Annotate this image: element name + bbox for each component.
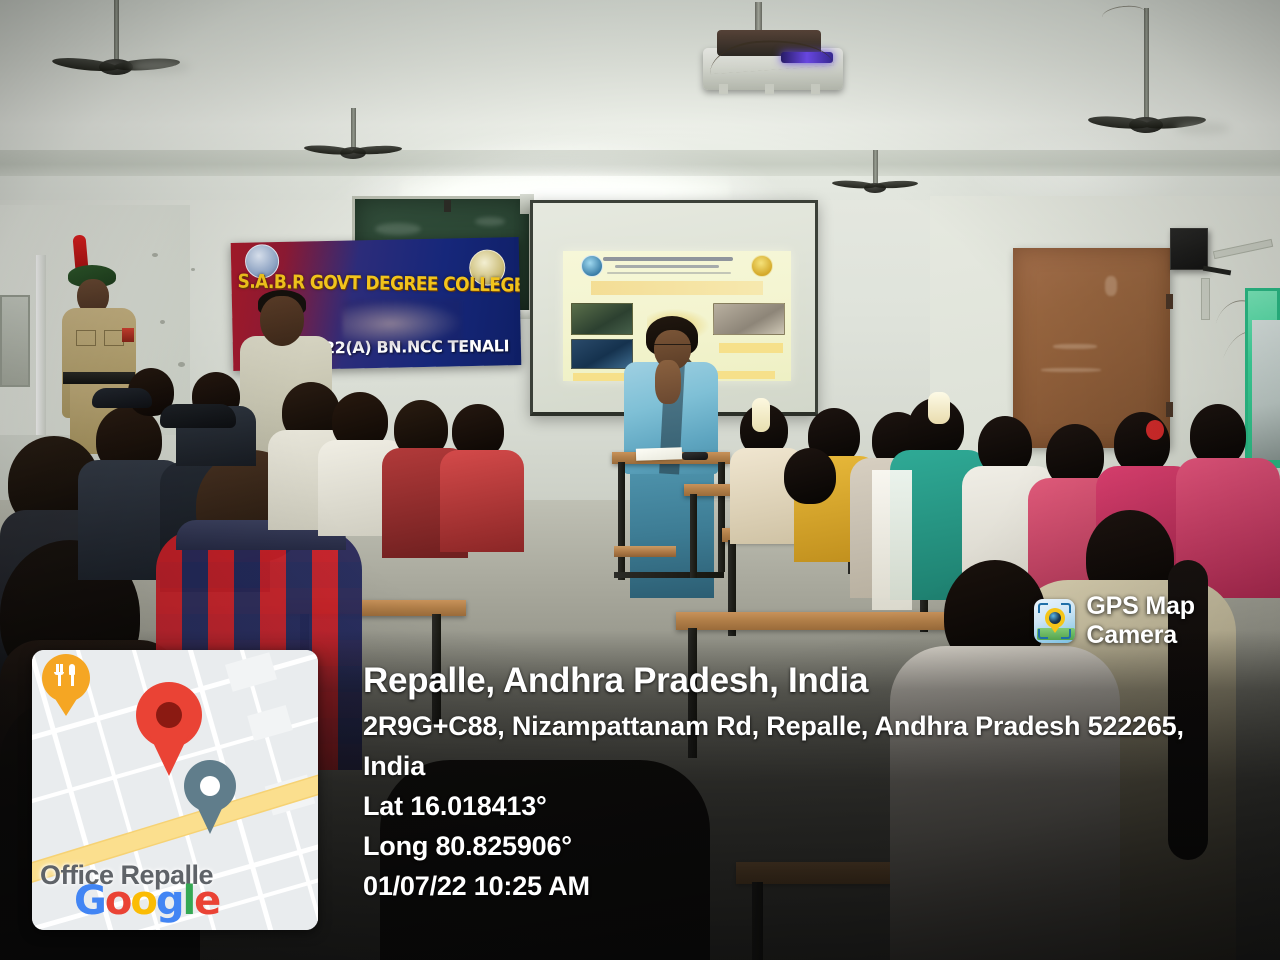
wall-speaker: [1170, 228, 1208, 270]
fork-knife-icon: [54, 664, 78, 688]
wall-conduit: [1201, 278, 1210, 320]
photo-timestamp: 01/07/22 10:25 AM: [363, 867, 1243, 907]
ceiling-fan-mid: [338, 108, 368, 154]
jasmine-garland: [928, 392, 950, 424]
wall-speck: [191, 268, 195, 271]
location-latitude: Lat 16.018413°: [363, 787, 1243, 827]
chalkboard-clip: [444, 200, 451, 212]
secondary-location-pin[interactable]: [184, 760, 236, 838]
map-thumbnail[interactable]: Office Repalle Google: [32, 650, 318, 930]
gps-camera-pin-icon: [1034, 599, 1075, 643]
location-title: Repalle, Andhra Pradesh, India: [363, 660, 1243, 703]
location-address-line-2: India: [363, 747, 1243, 787]
gps-map-camera-watermark: GPS Map Camera: [1034, 592, 1280, 650]
window-glass: [1252, 320, 1280, 460]
left-window: [0, 295, 30, 387]
wall-speck: [160, 320, 165, 324]
google-logo: Google: [74, 878, 219, 924]
location-longitude: Long 80.825906°: [363, 827, 1243, 867]
watermark-label: GPS Map Camera: [1086, 592, 1280, 650]
wall-speck: [178, 362, 185, 367]
ceiling-fan-right: [1128, 8, 1164, 128]
hair-flower: [1146, 420, 1164, 440]
student-cap: [92, 388, 152, 408]
restaurant-pin[interactable]: [42, 654, 90, 716]
ceiling-projector: [695, 22, 845, 86]
student-cap: [160, 404, 236, 428]
fan-blur-left: [130, 60, 190, 74]
gps-map-camera-photo: S.A.B.R GOVT DEGREE COLLEGE REPALLE ...O…: [0, 0, 1280, 960]
gps-info-block: Repalle, Andhra Pradesh, India 2R9G+C88,…: [363, 660, 1243, 906]
ceiling-fan-left: [96, 0, 136, 70]
wall-edge: [36, 255, 46, 435]
location-address-line-1: 2R9G+C88, Nizampattanam Rd, Repalle, And…: [363, 707, 1243, 747]
fan-blur-right: [1175, 122, 1230, 135]
wall-speck: [152, 253, 158, 257]
jasmine-garland: [752, 398, 770, 432]
ceiling-fan-mid2: [862, 150, 888, 188]
